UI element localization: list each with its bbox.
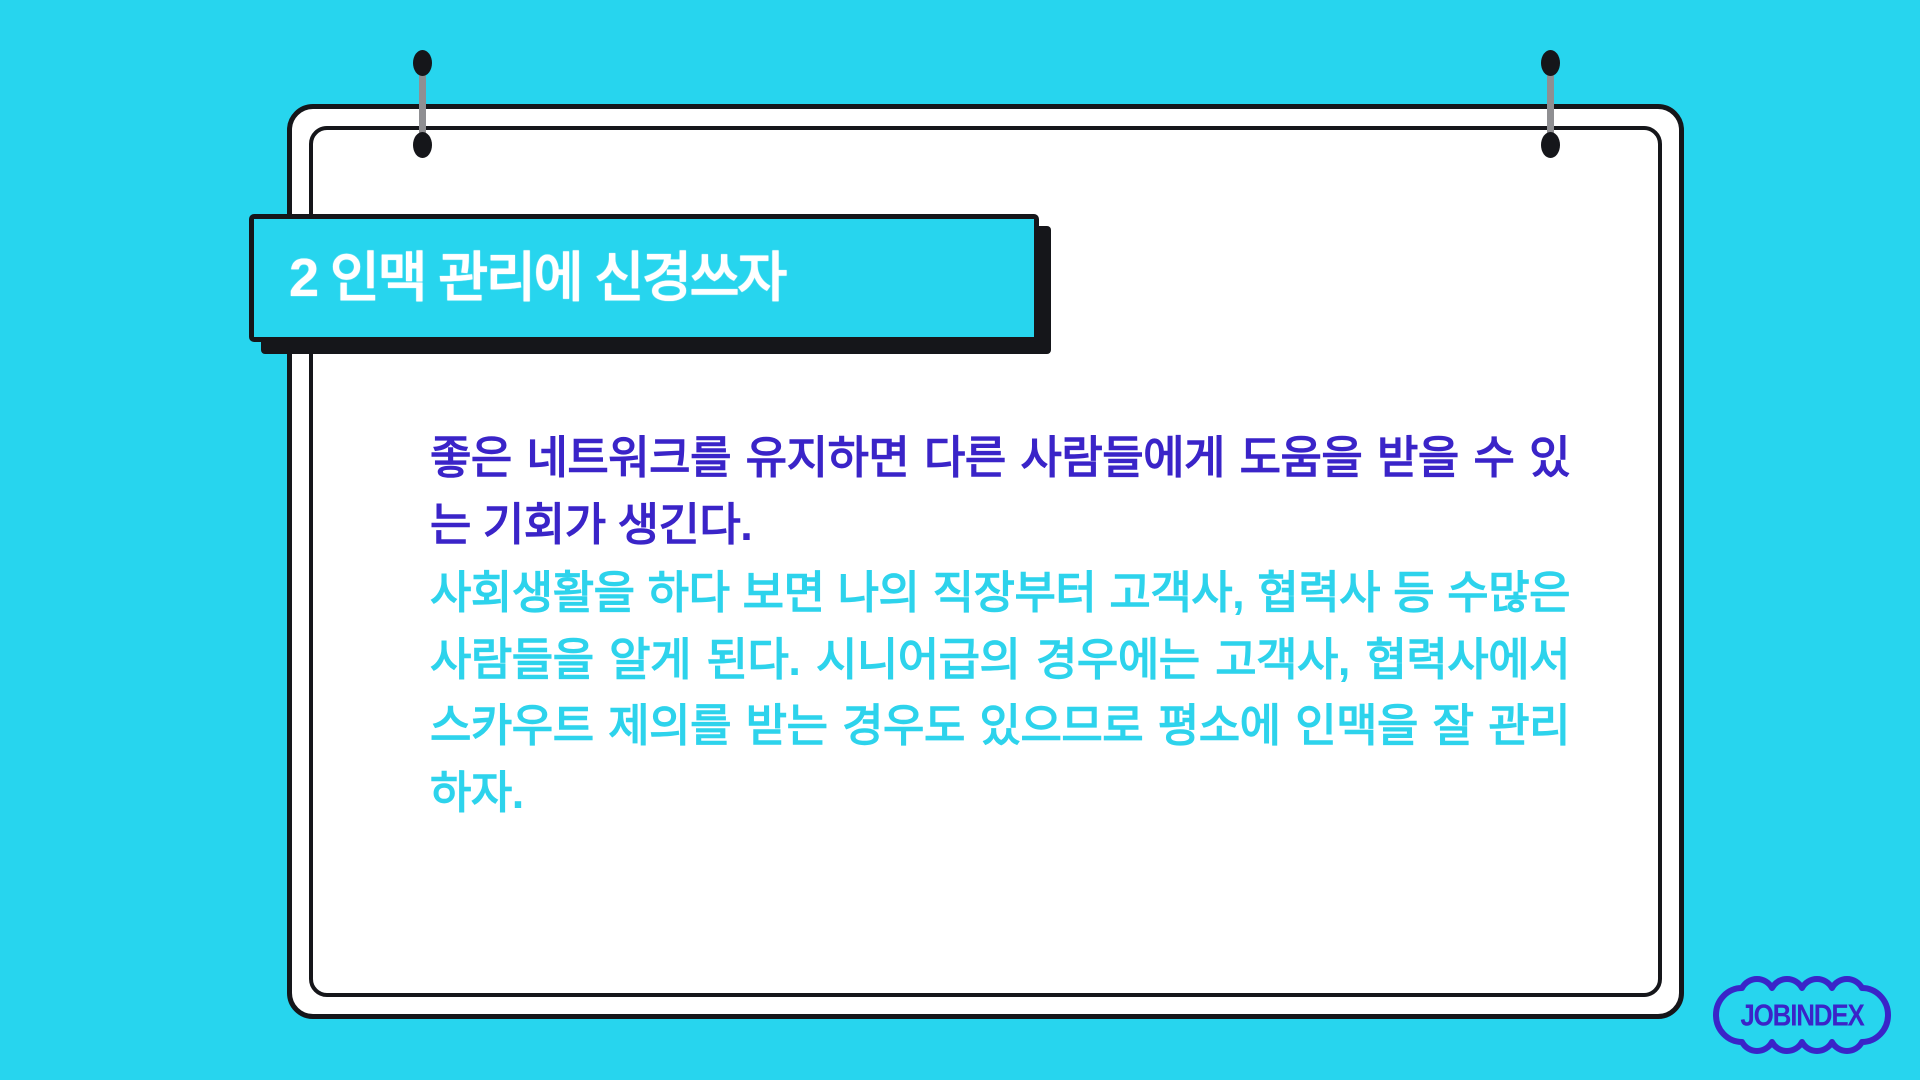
pin-head-bottom-icon bbox=[1541, 132, 1560, 158]
jobindex-logo: JOBINDEX bbox=[1712, 972, 1892, 1058]
pin-head-top-icon bbox=[413, 50, 432, 76]
paragraph-secondary: 사회생활을 하다 보면 나의 직장부터 고객사, 협력사 등 수많은 사람들을 … bbox=[430, 560, 1570, 826]
section-title: 2 인맥 관리에 신경쓰자 bbox=[289, 251, 785, 305]
slide-canvas: 2 인맥 관리에 신경쓰자 좋은 네트워크를 유지하면 다른 사람들에게 도움을… bbox=[0, 0, 1920, 1080]
body-copy: 좋은 네트워크를 유지하면 다른 사람들에게 도움을 받을 수 있는 기회가 생… bbox=[430, 425, 1570, 827]
logo-text: JOBINDEX bbox=[1740, 997, 1863, 1034]
banner-body: 2 인맥 관리에 신경쓰자 bbox=[249, 214, 1039, 342]
paragraph-primary: 좋은 네트워크를 유지하면 다른 사람들에게 도움을 받을 수 있는 기회가 생… bbox=[430, 425, 1570, 558]
pin-head-bottom-icon bbox=[413, 132, 432, 158]
pin-head-top-icon bbox=[1541, 50, 1560, 76]
section-banner: 2 인맥 관리에 신경쓰자 bbox=[249, 214, 1039, 342]
